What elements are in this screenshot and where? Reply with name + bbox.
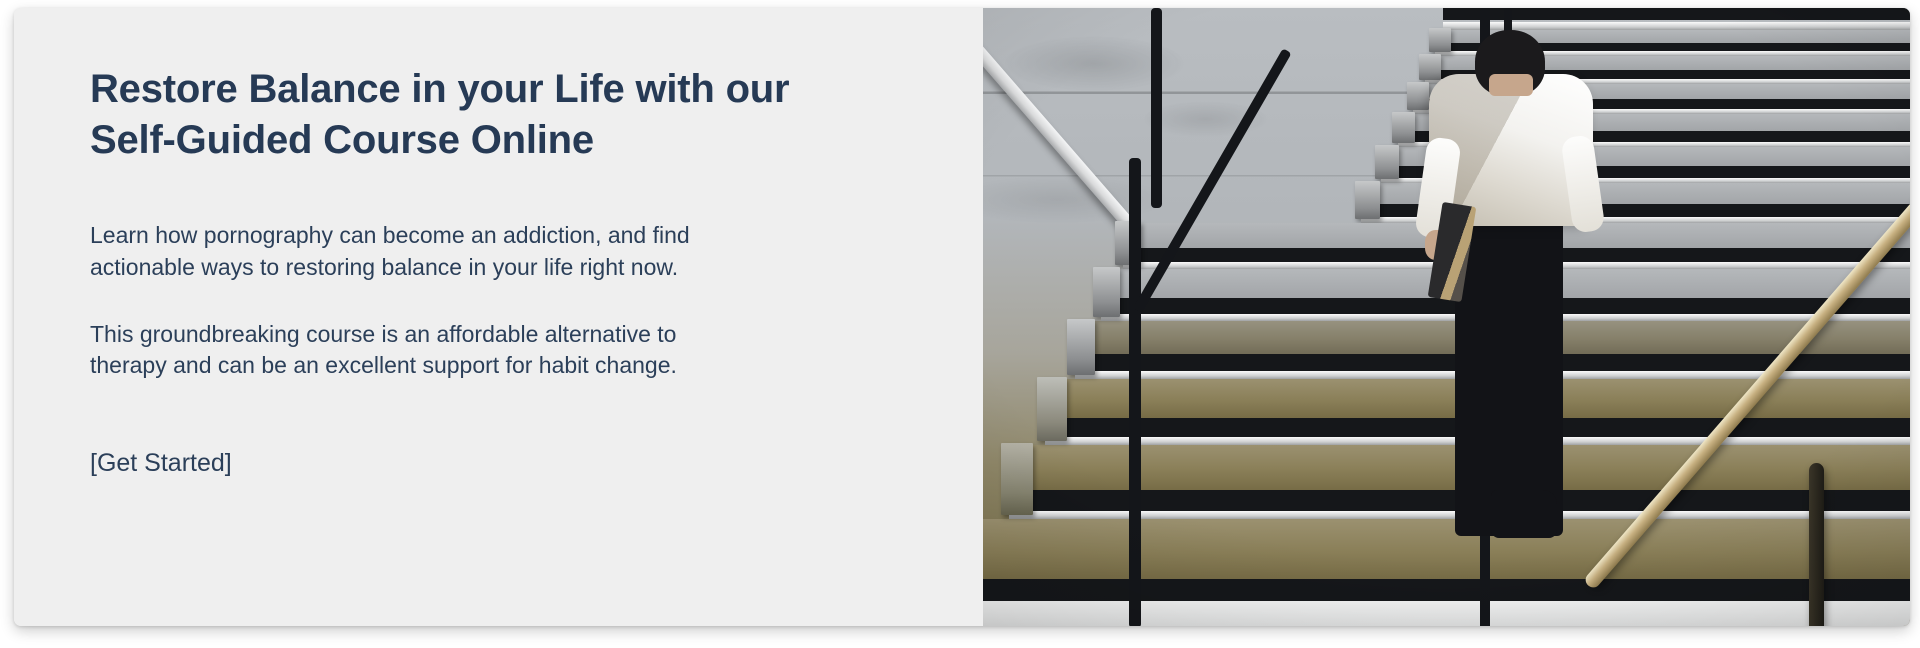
center-handrail-upright xyxy=(1129,158,1141,626)
get-started-link[interactable]: [Get Started] xyxy=(90,448,232,478)
stairs-photo-composition xyxy=(983,8,1910,626)
step-end-block xyxy=(1037,377,1067,441)
person-legs xyxy=(1455,206,1563,536)
page-title: Restore Balance in your Life with our Se… xyxy=(90,64,820,166)
text-panel: Restore Balance in your Life with our Se… xyxy=(14,8,983,626)
step-end-block xyxy=(1375,145,1399,179)
center-handrail-upright xyxy=(1151,8,1162,208)
promo-card: Restore Balance in your Life with our Se… xyxy=(14,8,1910,626)
body-paragraph-1: Learn how pornography can become an addi… xyxy=(90,220,730,283)
step-end-block xyxy=(1355,181,1380,219)
person-neck xyxy=(1489,74,1533,96)
step-end-block xyxy=(1093,267,1120,317)
brass-handrail-post xyxy=(1809,463,1824,626)
person-climbing-stairs xyxy=(1403,18,1633,538)
screenshot-canvas: Restore Balance in your Life with our Se… xyxy=(0,0,1920,648)
body-paragraph-2: This groundbreaking course is an afforda… xyxy=(90,319,730,382)
stairs-photo xyxy=(983,8,1910,626)
step-end-block xyxy=(1067,319,1095,375)
person-shoe xyxy=(1491,490,1557,538)
step-end-block xyxy=(1001,443,1033,515)
